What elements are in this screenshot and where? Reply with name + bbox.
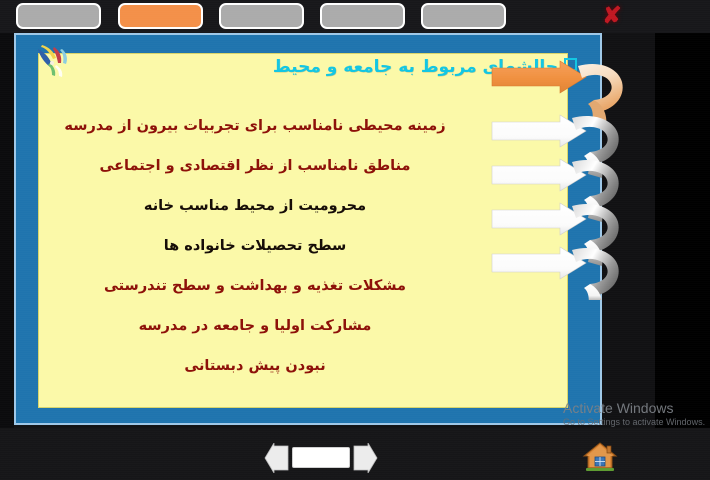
toolbar-button-2[interactable] (118, 3, 203, 29)
slide-title: چالشهای مربوط به جامعه و محیط (210, 57, 640, 77)
watermark-line-2: Go to Settings to activate Windows. (563, 416, 705, 428)
slide-body-list: زمینه محیطی نامناسب برای تجربیات بیرون ا… (40, 118, 470, 398)
left-gutter (0, 0, 14, 480)
slide-body-line: نبودن پیش دبستانی (40, 358, 470, 375)
slide-body-line: سطح تحصیلات خانواده ها (40, 238, 470, 255)
previous-slide-icon[interactable] (264, 443, 290, 473)
toolbar-button-5[interactable] (421, 3, 506, 29)
slide-body-line: مشارکت اولیا و جامعه در مدرسه (40, 318, 470, 335)
slide-body-line: زمینه محیطی نامناسب برای تجربیات بیرون ا… (40, 118, 470, 135)
slide-body-line: محرومیت از محیط مناسب خانه (40, 198, 470, 215)
toolbar-button-4[interactable] (320, 3, 405, 29)
watermark-line-1: Activate Windows (563, 400, 705, 416)
top-toolbar: ✘ (0, 0, 710, 33)
activate-windows-watermark: Activate Windows Go to Settings to activ… (563, 400, 705, 428)
close-icon[interactable]: ✘ (600, 2, 624, 28)
square-bullet-icon (564, 58, 577, 71)
slide-body-line: مناطق نامناسب از نظر اقتصادی و اجتماعی (40, 158, 470, 175)
page-indicator[interactable] (292, 447, 350, 468)
presentation-window: ✘ چالشهای مربوط به جامعه و محیط زمینه مح… (0, 0, 710, 480)
slide-body-line: مشکلات تغذیه و بهداشت و سطح تندرستی (40, 278, 470, 295)
home-icon[interactable] (582, 440, 618, 474)
next-slide-icon[interactable] (352, 443, 378, 473)
slide-title-text: چالشهای مربوط به جامعه و محیط (273, 57, 558, 77)
toolbar-button-3[interactable] (219, 3, 304, 29)
toolbar-button-1[interactable] (16, 3, 101, 29)
